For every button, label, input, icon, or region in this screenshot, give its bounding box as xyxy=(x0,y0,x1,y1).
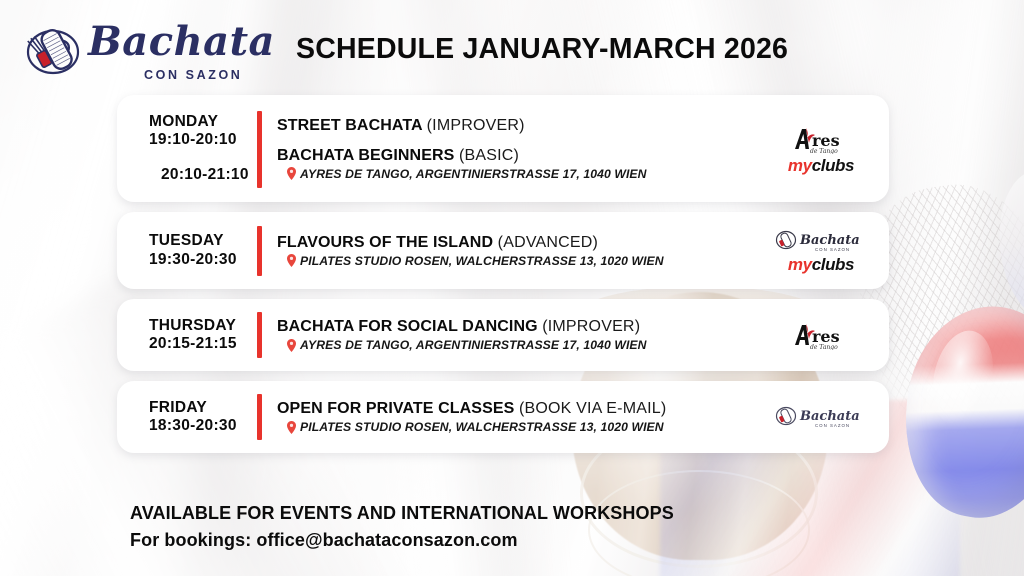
myclubs-logo: myclubs xyxy=(788,157,854,174)
class-entry[interactable]: OPEN FOR PRIVATE CLASSES (BOOK VIA E-MAI… xyxy=(277,400,771,434)
location-pin-icon xyxy=(287,254,296,267)
guiro-instrument-icon xyxy=(24,22,82,78)
myclubs-clubs: clubs xyxy=(812,156,854,175)
svg-text:Bachata: Bachata xyxy=(799,409,860,424)
schedule-row-thursday[interactable]: THURSDAY 20:15-21:15 BACHATA FOR SOCIAL … xyxy=(117,299,889,371)
schedule-row-friday[interactable]: FRIDAY 18:30-20:30 OPEN FOR PRIVATE CLAS… xyxy=(117,381,889,453)
class-level: (BASIC) xyxy=(459,147,519,164)
class-name: BACHATA FOR SOCIAL DANCING xyxy=(277,318,538,335)
class-list: BACHATA FOR SOCIAL DANCING (IMPROVER) AY… xyxy=(277,299,771,371)
footer-line-2: For bookings: office@bachataconsazon.com xyxy=(130,530,518,551)
partner-logos: res de Tango xyxy=(767,299,875,371)
class-entry[interactable]: BACHATA FOR SOCIAL DANCING (IMPROVER) AY… xyxy=(277,318,771,352)
class-level: (ADVANCED) xyxy=(498,234,598,251)
class-name: BACHATA BEGINNERS xyxy=(277,147,454,164)
svg-text:CON SAZON: CON SAZON xyxy=(815,423,850,428)
svg-text:Bachata: Bachata xyxy=(799,233,860,248)
location-text: AYRES DE TANGO, ARGENTINIERSTRASSE 17, 1… xyxy=(300,167,647,181)
partner-logos: Bachata CON SAZON xyxy=(767,381,875,453)
class-level: (IMPROVER) xyxy=(427,117,525,134)
location-text: AYRES DE TANGO, ARGENTINIERSTRASSE 17, 1… xyxy=(300,338,647,352)
class-location: AYRES DE TANGO, ARGENTINIERSTRASSE 17, 1… xyxy=(287,167,771,181)
ayres-de-tango-logo: res de Tango xyxy=(788,124,854,154)
accent-divider xyxy=(257,226,262,276)
class-entry[interactable]: BACHATA BEGINNERS (BASIC) AYRES DE TANGO… xyxy=(277,147,771,181)
myclubs-my: my xyxy=(788,156,812,175)
partner-logos: Bachata CON SAZON myclubs xyxy=(767,212,875,289)
accent-divider xyxy=(257,312,262,358)
myclubs-clubs: clubs xyxy=(812,255,854,274)
class-location: AYRES DE TANGO, ARGENTINIERSTRASSE 17, 1… xyxy=(287,338,771,352)
class-level: (IMPROVER) xyxy=(542,318,640,335)
location-text: PILATES STUDIO ROSEN, WALCHERSTRASSE 13,… xyxy=(300,420,664,434)
schedule-row-monday[interactable]: MONDAY 19:10-20:10 20:10-21:10 STREET BA… xyxy=(117,95,889,202)
schedule-row-tuesday[interactable]: TUESDAY 19:30-20:30 FLAVOURS OF THE ISLA… xyxy=(117,212,889,289)
bachata-con-sazon-logo: Bachata CON SAZON xyxy=(775,405,867,429)
partner-logos: res de Tango myclubs xyxy=(767,95,875,202)
svg-text:CON SAZON: CON SAZON xyxy=(815,247,850,252)
page-title: SCHEDULE JANUARY-MARCH 2026 xyxy=(296,33,788,66)
location-pin-icon xyxy=(287,167,296,180)
svg-text:de Tango: de Tango xyxy=(810,344,838,350)
class-location: PILATES STUDIO ROSEN, WALCHERSTRASSE 13,… xyxy=(287,254,771,268)
ayres-de-tango-logo: res de Tango xyxy=(788,320,854,350)
footer-line-1: AVAILABLE FOR EVENTS AND INTERNATIONAL W… xyxy=(130,503,674,524)
brand-tagline: CON SAZON xyxy=(144,68,242,82)
class-name: OPEN FOR PRIVATE CLASSES xyxy=(277,400,514,417)
brand-name: Bachata xyxy=(88,18,275,65)
class-entry[interactable]: STREET BACHATA (IMPROVER) xyxy=(277,117,771,135)
class-level: (BOOK VIA E-MAIL) xyxy=(519,400,666,417)
bachata-con-sazon-logo: Bachata CON SAZON xyxy=(775,229,867,253)
accent-divider xyxy=(257,111,262,188)
myclubs-logo: myclubs xyxy=(788,256,854,273)
location-pin-icon xyxy=(287,421,296,434)
class-list: STREET BACHATA (IMPROVER) BACHATA BEGINN… xyxy=(277,95,771,202)
accent-divider xyxy=(257,394,262,440)
class-entry[interactable]: FLAVOURS OF THE ISLAND (ADVANCED) PILATE… xyxy=(277,234,771,268)
location-text: PILATES STUDIO ROSEN, WALCHERSTRASSE 13,… xyxy=(300,254,664,268)
location-pin-icon xyxy=(287,339,296,352)
myclubs-my: my xyxy=(788,255,812,274)
class-name: FLAVOURS OF THE ISLAND xyxy=(277,234,493,251)
class-name: STREET BACHATA xyxy=(277,117,422,134)
class-list: OPEN FOR PRIVATE CLASSES (BOOK VIA E-MAI… xyxy=(277,381,771,453)
svg-text:de Tango: de Tango xyxy=(810,148,838,154)
brand-logo: Bachata CON SAZON xyxy=(24,20,274,82)
class-list: FLAVOURS OF THE ISLAND (ADVANCED) PILATE… xyxy=(277,212,771,289)
class-location: PILATES STUDIO ROSEN, WALCHERSTRASSE 13,… xyxy=(287,420,771,434)
